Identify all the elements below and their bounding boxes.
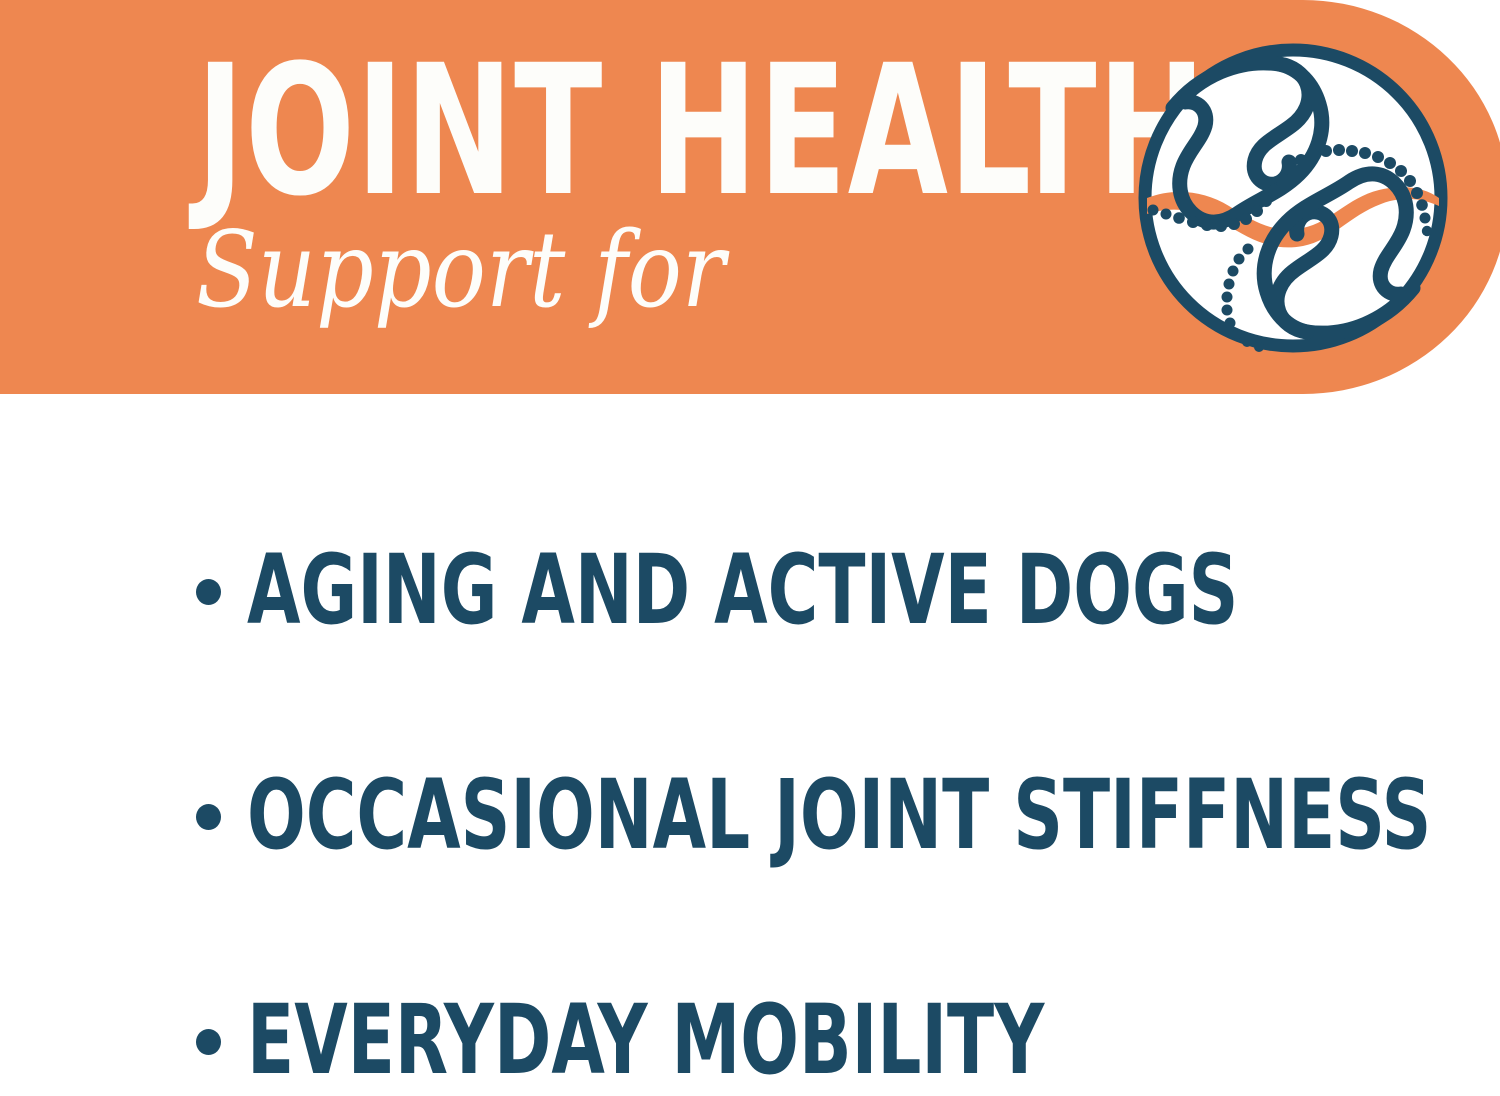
bullet-dot-icon <box>196 804 221 830</box>
header-banner: JOINT HEALTH Support for <box>0 0 1500 394</box>
list-item: OCCASIONAL JOINT STIFFNESS <box>196 767 1500 863</box>
list-item-label: AGING AND ACTIVE DOGS <box>247 542 1238 638</box>
page-title: JOINT HEALTH <box>196 52 916 212</box>
list-item-label: EVERYDAY MOBILITY <box>247 992 1044 1088</box>
list-item: EVERYDAY MOBILITY <box>196 992 1244 1088</box>
bullet-dot-icon <box>196 579 221 605</box>
list-item-label: OCCASIONAL JOINT STIFFNESS <box>247 767 1431 863</box>
list-item: AGING AND ACTIVE DOGS <box>196 542 1486 638</box>
banner-text-block: JOINT HEALTH Support for <box>196 52 1096 324</box>
page-subtitle: Support for <box>196 216 970 324</box>
joint-health-circle-logo-icon <box>1133 38 1453 358</box>
benefits-list: AGING AND ACTIVE DOGS OCCASIONAL JOINT S… <box>0 394 1500 1091</box>
bullet-dot-icon <box>196 1029 221 1055</box>
